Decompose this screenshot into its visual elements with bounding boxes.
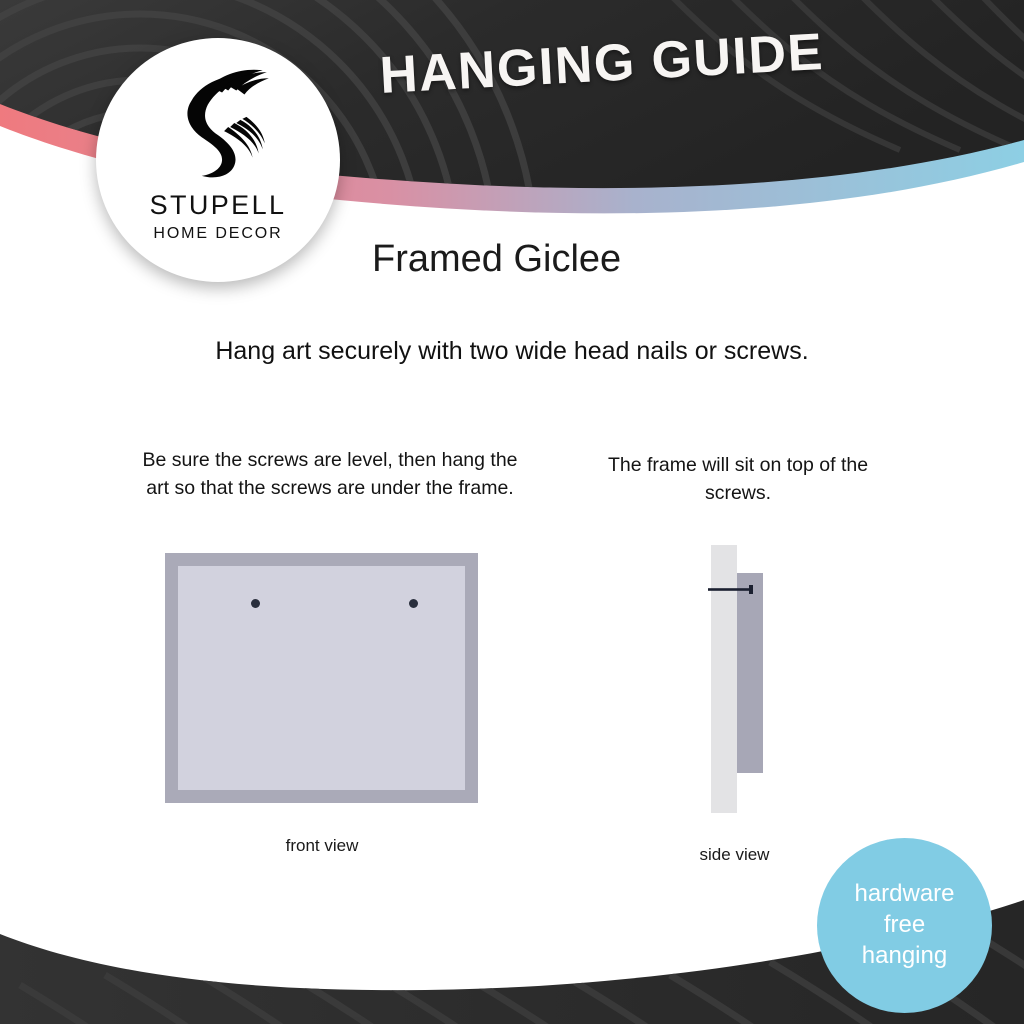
side-view-diagram	[700, 540, 800, 820]
page-title: HANGING GUIDE	[378, 22, 825, 106]
front-view-caption: Be sure the screws are level, then hang …	[140, 447, 520, 502]
front-view-mat	[178, 566, 465, 790]
side-view-caption: The frame will sit on top of the screws.	[588, 452, 888, 507]
side-view-screw-icon	[708, 585, 758, 594]
logo-brand-name: STUPELL	[150, 192, 287, 219]
side-view-frame	[737, 573, 763, 773]
hanging-guide-page: STUPELL HOME DECOR HANGING GUIDE Framed …	[0, 0, 1024, 1024]
side-view-label: side view	[622, 845, 847, 865]
product-type-heading: Framed Giclee	[372, 238, 621, 281]
stupell-swoosh-logo-icon	[157, 64, 279, 184]
logo-tagline: HOME DECOR	[153, 226, 282, 242]
hardware-free-hanging-badge: hardware free hanging	[817, 838, 992, 1013]
badge-line-1: hardware	[854, 879, 954, 910]
screw-dot-left-icon	[251, 599, 260, 608]
screw-dot-right-icon	[409, 599, 418, 608]
front-view-label: front view	[180, 836, 464, 856]
badge-line-2: free	[884, 910, 925, 941]
badge-line-3: hanging	[862, 941, 947, 972]
stupell-logo-badge: STUPELL HOME DECOR	[96, 38, 340, 282]
front-view-diagram	[165, 553, 478, 803]
lead-instruction-text: Hang art securely with two wide head nai…	[0, 337, 1024, 366]
